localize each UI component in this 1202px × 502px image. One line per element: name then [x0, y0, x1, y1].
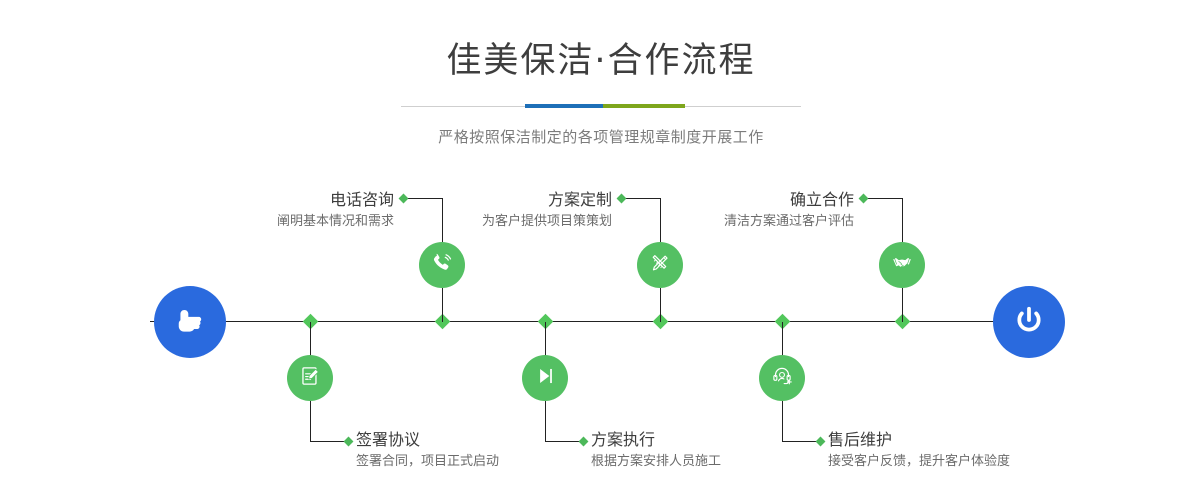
- connector-line: [902, 288, 903, 322]
- flowchart-canvas: 佳美保洁·合作流程 严格按照保洁制定的各项管理规章制度开展工作: [0, 0, 1202, 502]
- phone-call-icon: [429, 250, 455, 280]
- step-label-4: 方案执行 根据方案安排人员施工: [591, 430, 721, 471]
- divider-segment-blue: [525, 104, 603, 108]
- step-title: 确立合作: [644, 190, 854, 210]
- connector-line: [310, 401, 311, 441]
- step-title: 电话咨询: [150, 190, 394, 210]
- page-subtitle: 严格按照保洁制定的各项管理规章制度开展工作: [0, 126, 1202, 147]
- document-edit-icon: [297, 363, 323, 393]
- label-marker: [344, 437, 354, 447]
- pointing-hand-icon: [170, 300, 210, 344]
- step-title: 售后维护: [828, 430, 1010, 450]
- customer-service-add-icon: [769, 363, 795, 393]
- step-node-5[interactable]: [879, 242, 925, 288]
- pencil-ruler-icon: [647, 250, 673, 280]
- connector-line: [782, 401, 783, 441]
- timeline-axis: [150, 321, 1055, 322]
- play-skip-icon: [532, 363, 558, 393]
- connector-line: [310, 322, 311, 356]
- step-desc: 阐明基本情况和需求: [150, 213, 394, 231]
- label-marker: [579, 437, 589, 447]
- step-label-3: 方案定制 为客户提供项目策策划: [400, 190, 612, 231]
- step-title: 签署协议: [356, 430, 499, 450]
- connector-line: [782, 322, 783, 356]
- label-marker: [617, 194, 627, 204]
- step-label-5: 确立合作 清洁方案通过客户评估: [644, 190, 854, 231]
- title-divider: [401, 101, 801, 113]
- page-title: 佳美保洁·合作流程: [0, 44, 1202, 79]
- connector-line: [545, 322, 546, 356]
- step-title: 方案定制: [400, 190, 612, 210]
- step-desc: 为客户提供项目策策划: [400, 213, 612, 231]
- step-node-1[interactable]: [419, 242, 465, 288]
- handshake-icon: [889, 250, 915, 280]
- connector-line: [902, 198, 903, 242]
- step-node-6[interactable]: [759, 355, 805, 401]
- step-node-2[interactable]: [287, 355, 333, 401]
- step-node-3[interactable]: [637, 242, 683, 288]
- step-label-1: 电话咨询 阐明基本情况和需求: [150, 190, 394, 231]
- power-icon: [1009, 300, 1049, 344]
- step-label-2: 签署协议 签署合同，项目正式启动: [356, 430, 499, 471]
- connector-line: [442, 288, 443, 322]
- connector-line: [660, 288, 661, 322]
- step-desc: 签署合同，项目正式启动: [356, 453, 499, 471]
- step-desc: 清洁方案通过客户评估: [644, 213, 854, 231]
- step-desc: 根据方案安排人员施工: [591, 453, 721, 471]
- step-desc: 接受客户反馈，提升客户体验度: [828, 453, 1010, 471]
- step-label-6: 售后维护 接受客户反馈，提升客户体验度: [828, 430, 1010, 471]
- connector-line: [864, 198, 902, 199]
- end-node[interactable]: [993, 286, 1065, 358]
- header: 佳美保洁·合作流程 严格按照保洁制定的各项管理规章制度开展工作: [0, 0, 1202, 147]
- connector-line: [545, 401, 546, 441]
- label-marker: [859, 194, 869, 204]
- step-node-4[interactable]: [522, 355, 568, 401]
- label-marker: [816, 437, 826, 447]
- divider-segment-green: [603, 104, 685, 108]
- step-title: 方案执行: [591, 430, 721, 450]
- start-node[interactable]: [154, 286, 226, 358]
